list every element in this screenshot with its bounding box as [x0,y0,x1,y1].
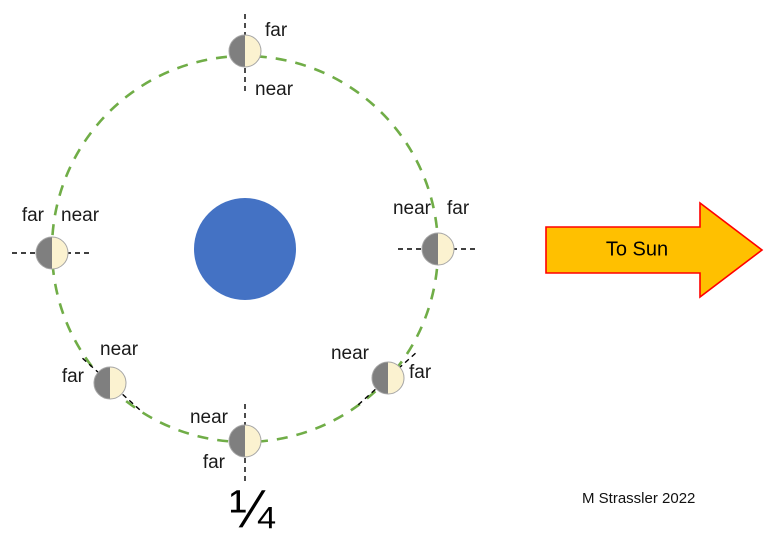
moon-bottom-far-label: far [203,452,226,473]
moon-bottom-left-far-half [94,367,110,399]
credit-label: M Strassler 2022 [582,490,695,507]
moon-top-near-half [245,35,261,67]
to-sun-label: To Sun [606,238,668,260]
moon-right [398,233,478,265]
moon-bottom-near-half [245,425,261,457]
moon-bottom-near-label: near [190,407,229,428]
moon-right-far-half [422,233,438,265]
moon-left-near-half [52,237,68,269]
figure-canvas: farnearfarnearfarnearfarnearfarnearfarne… [0,0,768,549]
moon-left-far-half [36,237,52,269]
moon-left-near-label: near [61,205,100,226]
moon-bottom [229,401,261,481]
moon-right-near-half [438,233,454,265]
moon-left-far-label: far [22,205,45,226]
moon-right-far-label: far [447,198,470,219]
moon-top-far-half [229,35,245,67]
moon-bottom-right-near-label: near [331,343,370,364]
moon-top-far-label: far [265,20,288,41]
moon-bottom-far-half [229,425,245,457]
moon-bottom-left [80,356,139,410]
moon-left [12,237,92,269]
moon-bottom-right-far-half [372,362,388,394]
moon-bottom-left-near-half [110,367,126,399]
moon-bottom-right-far-label: far [409,362,432,383]
earth-body [194,198,296,300]
moon-phases-diagram: farnearfarnearfarnearfarnearfarnearfarne… [0,0,768,549]
moon-bottom-left-far-label: far [62,366,85,387]
moon-bottom-right-near-half [388,362,404,394]
phase-fraction-caption: ¼ [229,479,275,539]
moon-bottom-left-near-label: near [100,339,139,360]
to-sun-arrow: To Sun [546,203,762,297]
moon-top-near-label: near [255,79,294,100]
moon-right-near-label: near [393,198,432,219]
